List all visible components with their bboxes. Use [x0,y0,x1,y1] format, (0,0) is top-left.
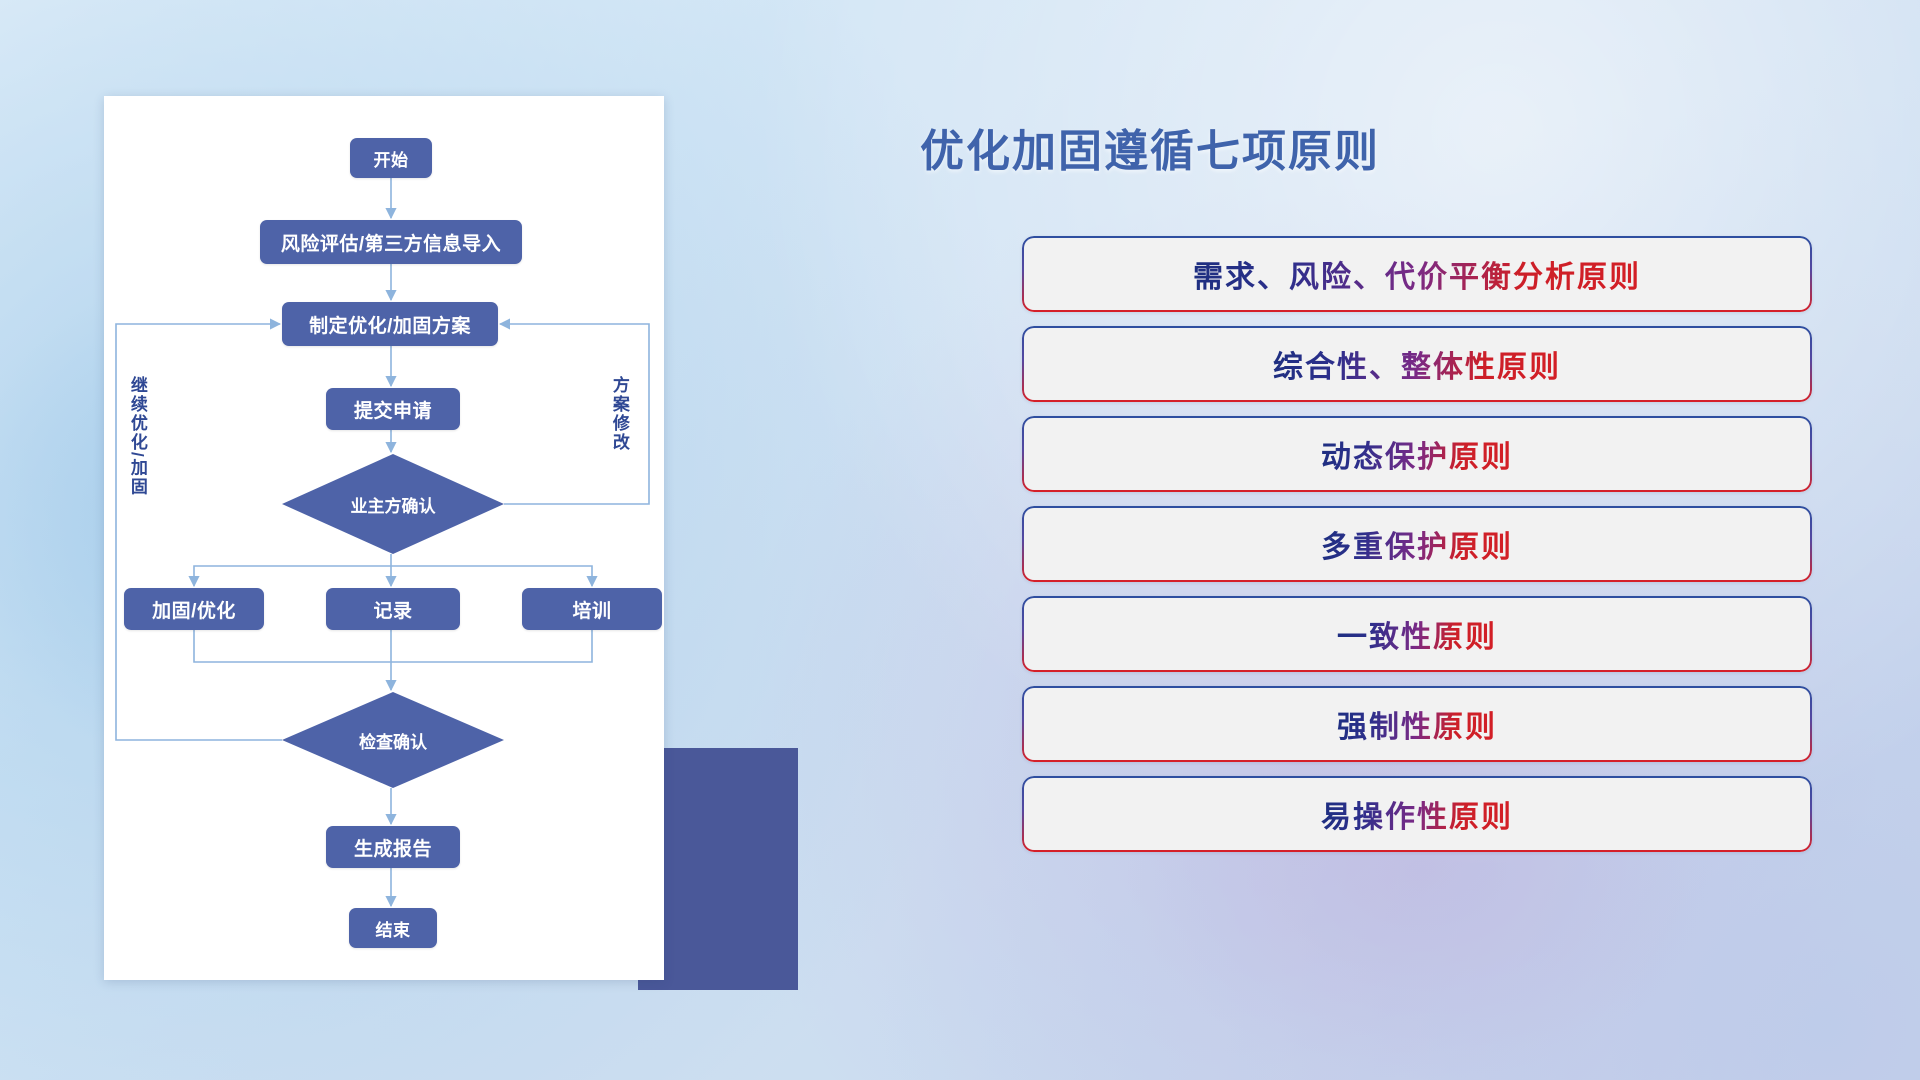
page-title: 优化加固遵循七项原则 [920,115,1380,179]
principle-label: 强制性原则 [1337,702,1497,746]
edge-label-continue-optimize: 继续优化/加固 [128,376,146,497]
principle-card[interactable]: 多重保护原则 [1022,506,1812,582]
flow-node-end[interactable]: 结束 [349,908,437,948]
flow-node-report[interactable]: 生成报告 [326,826,460,868]
flow-node-label: 开始 [374,146,409,171]
flow-node-start[interactable]: 开始 [350,138,432,178]
principle-label: 多重保护原则 [1321,522,1513,566]
flow-node-label: 风险评估/第三方信息导入 [281,229,501,256]
flow-node-label: 结束 [376,916,411,941]
principle-label: 一致性原则 [1337,612,1497,656]
principle-card[interactable]: 综合性、整体性原则 [1022,326,1812,402]
flow-node-label: 制定优化/加固方案 [309,311,471,338]
flow-node-label: 生成报告 [354,834,432,861]
principles-list: 需求、风险、代价平衡分析原则 综合性、整体性原则 动态保护原则 多重保护原则 一… [1022,236,1812,866]
flow-node-training[interactable]: 培训 [522,588,662,630]
flow-node-record[interactable]: 记录 [326,588,460,630]
principle-card[interactable]: 易操作性原则 [1022,776,1812,852]
edge-label-plan-revision: 方案修改 [610,376,628,452]
principle-label: 易操作性原则 [1321,792,1513,836]
flow-node-submit[interactable]: 提交申请 [326,388,460,430]
principle-label: 动态保护原则 [1321,432,1513,476]
principle-label: 需求、风险、代价平衡分析原则 [1193,252,1641,296]
flow-node-label: 记录 [373,596,412,623]
flow-node-plan[interactable]: 制定优化/加固方案 [282,302,498,346]
flow-node-label: 业主方确认 [351,492,436,517]
flow-node-risk[interactable]: 风险评估/第三方信息导入 [260,220,522,264]
flowchart-card: 开始 风险评估/第三方信息导入 制定优化/加固方案 提交申请 业主方确认 加固/… [104,96,664,980]
principle-card[interactable]: 一致性原则 [1022,596,1812,672]
principle-card[interactable]: 强制性原则 [1022,686,1812,762]
flow-node-label: 提交申请 [354,396,432,423]
principle-label: 综合性、整体性原则 [1273,342,1561,386]
principle-card[interactable]: 需求、风险、代价平衡分析原则 [1022,236,1812,312]
flow-node-reinforce[interactable]: 加固/优化 [124,588,264,630]
principle-card[interactable]: 动态保护原则 [1022,416,1812,492]
flow-node-label: 培训 [572,596,611,623]
flow-node-label: 加固/优化 [152,596,236,623]
flow-node-label: 检查确认 [359,728,427,753]
